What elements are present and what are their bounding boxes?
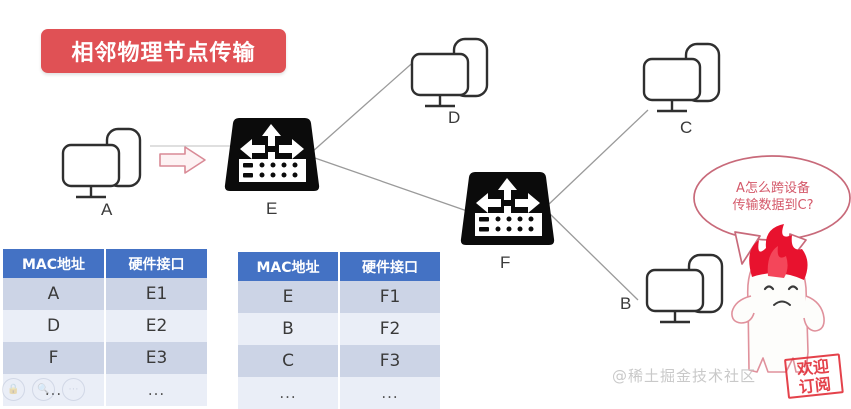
column-header-port: 硬件接口 xyxy=(105,249,207,278)
computer-icon-c xyxy=(644,44,719,111)
node-label-a: A xyxy=(101,200,112,220)
node-label-c: C xyxy=(680,118,692,138)
cell-port: F3 xyxy=(339,345,440,377)
bottom-icon-strip: 🔒 🔍 ⋯ xyxy=(2,378,85,401)
node-label-f: F xyxy=(500,253,510,273)
subscribe-stamp-box: 欢迎 订阅 xyxy=(784,353,844,399)
table-row: C F3 xyxy=(238,345,440,377)
link-f-c xyxy=(548,110,648,205)
table-row: A E1 xyxy=(3,278,207,310)
stamp-line-2: 订阅 xyxy=(788,374,842,397)
computer-icon-b xyxy=(647,255,722,322)
cell-mac: F xyxy=(3,342,105,374)
cell-mac: C xyxy=(238,345,339,377)
node-label-d: D xyxy=(448,108,460,128)
table-header-row: MAC地址 硬件接口 xyxy=(238,252,440,281)
switch-icon-f xyxy=(461,172,554,245)
link-e-d xyxy=(312,58,418,152)
link-a-e-arrow xyxy=(160,147,205,173)
cell-mac: B xyxy=(238,313,339,345)
cell-mac: A xyxy=(3,278,105,310)
search-icon[interactable]: 🔍 xyxy=(32,378,55,401)
link-f-b xyxy=(548,212,638,300)
cell-port: F2 xyxy=(339,313,440,345)
cell-mac: E xyxy=(238,281,339,313)
link-e-f xyxy=(312,157,470,212)
lock-icon[interactable]: 🔒 xyxy=(2,378,25,401)
table-row: B F2 xyxy=(238,313,440,345)
table-row: ... ... xyxy=(238,377,440,409)
column-header-mac: MAC地址 xyxy=(3,249,105,278)
node-label-b: B xyxy=(620,294,631,314)
cell-port: E3 xyxy=(105,342,207,374)
mac-table-f: MAC地址 硬件接口 E F1 B F2 C F3 ... ... xyxy=(238,252,440,409)
table-header-row: MAC地址 硬件接口 xyxy=(3,249,207,278)
column-header-port: 硬件接口 xyxy=(339,252,440,281)
computer-icon-d xyxy=(412,39,487,106)
speech-bubble-text: A怎么跨设备 传输数据到C? xyxy=(700,180,846,214)
table-row: E F1 xyxy=(238,281,440,313)
cell-port: ... xyxy=(339,377,440,409)
cell-port: F1 xyxy=(339,281,440,313)
cell-mac: ... xyxy=(238,377,339,409)
computer-icon-a xyxy=(63,129,140,197)
column-header-mac: MAC地址 xyxy=(238,252,339,281)
cell-port: E2 xyxy=(105,310,207,342)
table-row: F E3 xyxy=(3,342,207,374)
watermark-text: @稀土掘金技术社区 xyxy=(612,365,756,386)
switch-port-panel-e xyxy=(239,159,306,182)
cell-port: E1 xyxy=(105,278,207,310)
cell-mac: D xyxy=(3,310,105,342)
table-row: D E2 xyxy=(3,310,207,342)
cell-port: ... xyxy=(105,374,207,406)
switch-port-panel-f xyxy=(475,213,542,236)
switch-icon-e xyxy=(225,118,319,191)
node-label-e: E xyxy=(266,199,277,219)
diagram-canvas: 相邻物理节点传输 xyxy=(0,0,851,400)
more-icon[interactable]: ⋯ xyxy=(62,378,85,401)
subscribe-stamp: 欢迎 订阅 xyxy=(784,353,846,401)
